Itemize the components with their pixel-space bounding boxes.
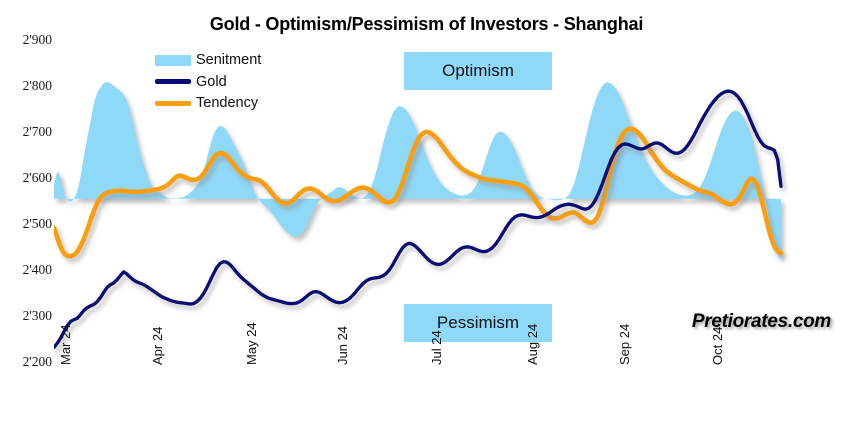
x-axis-tick: Apr 24 [150,327,165,365]
x-axis-tick: Jul 24 [429,330,444,365]
x-axis-tick: May 24 [244,322,259,365]
x-axis-tick: Aug 24 [525,324,540,365]
chart-root: Gold - Optimism/Pessimism of Investors -… [0,0,853,426]
x-axis: Mar 24Apr 24May 24Jun 24Jul 24Aug 24Sep … [0,0,853,426]
x-axis-tick: Oct 24 [710,327,725,365]
x-axis-tick: Mar 24 [58,325,73,365]
x-axis-tick: Jun 24 [335,326,350,365]
x-axis-tick: Sep 24 [617,324,632,365]
